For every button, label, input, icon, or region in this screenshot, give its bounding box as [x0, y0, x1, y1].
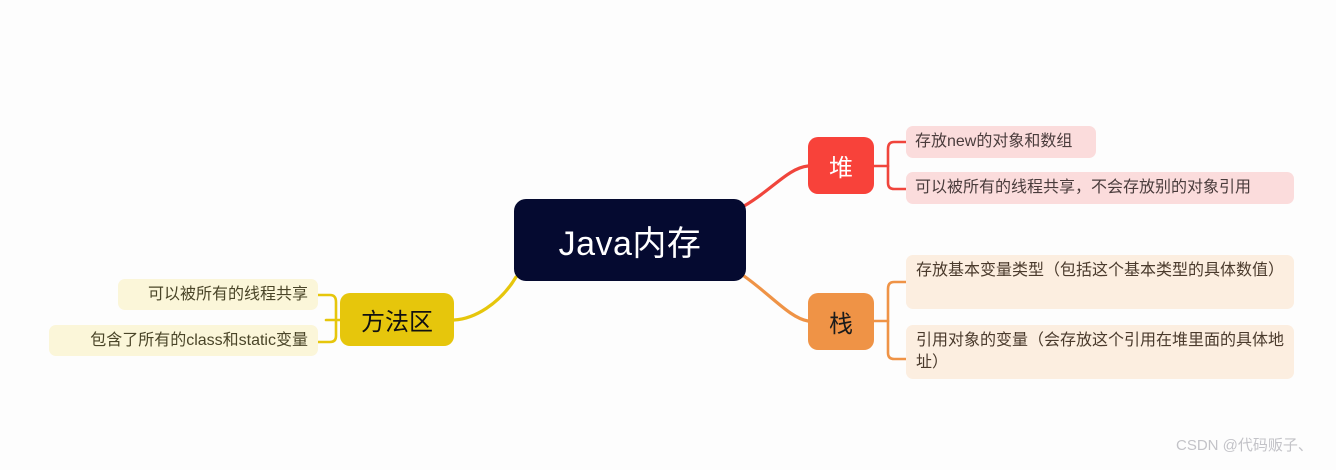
branch-node-method-area[interactable]: 方法区	[340, 293, 454, 346]
leaf-heap-1[interactable]: 存放new的对象和数组	[906, 126, 1096, 158]
branch-node-stack[interactable]: 栈	[808, 293, 874, 350]
leaf-heap-2[interactable]: 可以被所有的线程共享，不会存放别的对象引用	[906, 172, 1294, 204]
edge-root-to-heap	[744, 166, 808, 206]
branch-node-stack-label: 栈	[829, 304, 853, 339]
edge-root-to-stack	[744, 276, 808, 321]
edge-method-area-bracket-arm	[318, 295, 336, 342]
leaf-method-area-1-label: 可以被所有的线程共享	[148, 284, 308, 306]
branch-node-method-area-label: 方法区	[361, 302, 433, 337]
edge-root-to-method-area	[454, 277, 516, 320]
leaf-heap-1-label: 存放new的对象和数组	[915, 131, 1072, 153]
leaf-heap-2-label: 可以被所有的线程共享，不会存放别的对象引用	[915, 177, 1251, 199]
branch-node-heap[interactable]: 堆	[808, 137, 874, 194]
leaf-method-area-1[interactable]: 可以被所有的线程共享	[118, 279, 318, 310]
leaf-stack-1[interactable]: 存放基本变量类型（包括这个基本类型的具体数值）	[906, 255, 1294, 309]
leaf-stack-2[interactable]: 引用对象的变量（会存放这个引用在堆里面的具体地址）	[906, 325, 1294, 379]
branch-node-heap-label: 堆	[829, 148, 853, 183]
watermark: CSDN @代码贩子、	[1176, 434, 1313, 455]
leaf-stack-1-label: 存放基本变量类型（包括这个基本类型的具体数值）	[916, 260, 1284, 282]
edge-stack-bracket-arm	[888, 282, 906, 359]
edge-heap-bracket-arm	[888, 142, 906, 189]
mindmap-canvas: Java内存 堆 存放new的对象和数组 可以被所有的线程共享，不会存放别的对象…	[0, 0, 1336, 470]
leaf-method-area-2-label: 包含了所有的class和static变量	[90, 330, 308, 352]
root-node-label: Java内存	[559, 216, 702, 265]
leaf-method-area-2[interactable]: 包含了所有的class和static变量	[49, 325, 318, 356]
root-node-java-memory[interactable]: Java内存	[514, 199, 746, 281]
leaf-stack-2-label: 引用对象的变量（会存放这个引用在堆里面的具体地址）	[916, 330, 1284, 374]
